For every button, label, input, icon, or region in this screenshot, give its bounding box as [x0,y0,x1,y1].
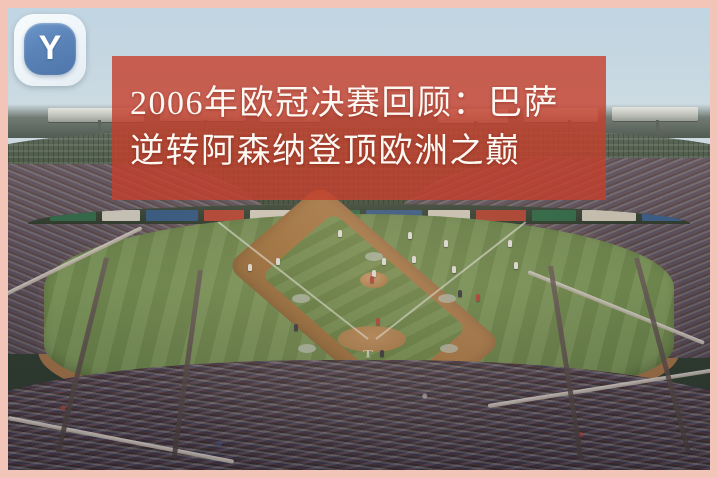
first-base [438,294,456,303]
player [408,232,412,239]
player [476,294,480,301]
player [382,258,386,265]
lower-bowl-crowd [8,360,710,470]
third-base [292,294,310,303]
player [508,240,512,247]
second-base [365,252,383,261]
player [444,240,448,247]
player [452,266,456,273]
light-tower-icon [612,107,698,121]
player [248,264,252,271]
player [338,230,342,237]
umpire [294,324,298,331]
ad-board [146,210,198,221]
player [370,276,374,283]
app-logo-badge[interactable]: Y [14,14,86,86]
ad-board [532,210,576,221]
title-banner: 2006年欧冠决赛回顾：巴萨逆转阿森纳登顶欧洲之巅 [112,56,606,200]
logo-letter: Y [39,31,62,65]
player [276,258,280,265]
ad-board [582,210,636,221]
player [514,262,518,269]
on-deck-circle [440,344,458,353]
ad-board [102,210,140,221]
umpire [458,290,462,297]
on-deck-player [380,350,384,357]
player [412,256,416,263]
ad-board [50,210,96,221]
roof-strut [98,120,101,134]
on-deck-circle [298,344,316,353]
batter [376,318,380,325]
screenshot-root: T 2006年欧冠决赛回顾：巴萨逆转阿森纳登顶欧洲之巅 [0,0,718,478]
logo-squircle-icon: Y [24,23,76,75]
page-title: 2006年欧冠决赛回顾：巴萨逆转阿森纳登顶欧洲之巅 [130,80,588,177]
ad-board [642,210,682,221]
roof-strut [656,120,659,134]
